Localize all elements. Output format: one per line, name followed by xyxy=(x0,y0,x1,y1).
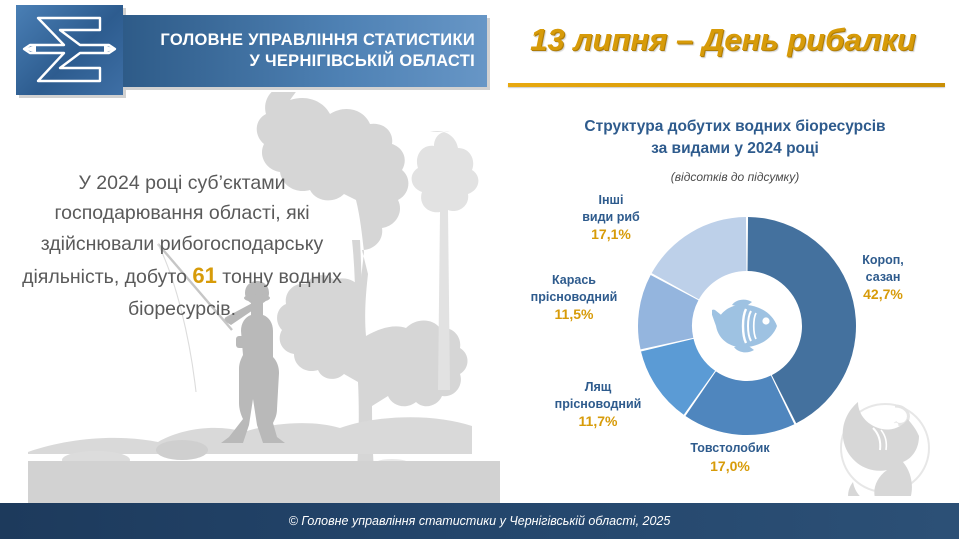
chart-label-inshi-name-1: Інші xyxy=(599,193,624,207)
summary-text: У 2024 році суб’єктами господарювання об… xyxy=(8,168,356,324)
infographic-page: ГОЛОВНЕ УПРАВЛІННЯ СТАТИСТИКИ У ЧЕРНІГІВ… xyxy=(0,0,959,539)
chart-label-karas-value: 11,5% xyxy=(505,305,643,323)
chart-label-inshi-value: 17,1% xyxy=(548,225,674,243)
chart-label-tovstolobyk-name: Товстолобик xyxy=(690,441,769,455)
chart-label-lyashch-value: 11,7% xyxy=(528,412,668,430)
footer-bar: © Головне управління статистики у Черніг… xyxy=(0,503,959,539)
chart-label-karas: Карась прісноводний 11,5% xyxy=(505,272,643,323)
ground-strip xyxy=(28,461,500,504)
chart-label-korop-name-2: сазан xyxy=(866,270,901,284)
sigma-arrow-icon xyxy=(16,5,123,95)
org-line-2: У ЧЕРНІГІВСЬКІЙ ОБЛАСТІ xyxy=(250,51,476,72)
chart-subtitle: (відсотків до підсумку) xyxy=(520,170,950,184)
fish-emblem-svg xyxy=(833,392,937,496)
fish-hook-emblem-icon xyxy=(833,392,937,496)
chart-title: Структура добутих водних біоресурсів за … xyxy=(520,116,950,161)
title-divider xyxy=(508,83,945,87)
org-line-1: ГОЛОВНЕ УПРАВЛІННЯ СТАТИСТИКИ xyxy=(160,30,475,51)
chart-label-karas-name-1: Карась xyxy=(552,273,596,287)
chart-label-karas-name-2: прісноводний xyxy=(531,290,618,304)
chart-label-lyashch: Лящ прісноводний 11,7% xyxy=(528,379,668,430)
chart-label-lyashch-name-1: Лящ xyxy=(585,380,612,394)
summary-highlight-value: 61 xyxy=(192,263,216,288)
donut-chart xyxy=(636,215,858,437)
organization-banner: ГОЛОВНЕ УПРАВЛІННЯ СТАТИСТИКИ У ЧЕРНІГІВ… xyxy=(123,15,487,87)
chart-label-lyashch-name-2: прісноводний xyxy=(555,397,642,411)
page-title: 13 липня – День рибалки xyxy=(498,22,948,58)
chart-title-line-1: Структура добутих водних біоресурсів xyxy=(520,116,950,138)
donut-center xyxy=(695,274,799,378)
chart-label-korop-value: 42,7% xyxy=(828,285,938,303)
chart-label-korop-name-1: Короп, xyxy=(862,253,904,267)
chart-label-tovstolobyk: Товстолобик 17,0% xyxy=(650,440,810,475)
footer-copyright: © Головне управління статистики у Черніг… xyxy=(289,514,671,528)
chart-title-line-2: за видами у 2024 році xyxy=(520,138,950,160)
fish-icon xyxy=(712,299,782,353)
chart-label-inshi-name-2: види риб xyxy=(582,210,640,224)
chart-label-inshi-vydy-ryb: Інші види риб 17,1% xyxy=(548,192,674,243)
chart-label-korop-sazan: Короп, сазан 42,7% xyxy=(828,252,938,303)
chart-label-tovstolobyk-value: 17,0% xyxy=(650,457,810,475)
statistics-logo xyxy=(16,5,123,95)
